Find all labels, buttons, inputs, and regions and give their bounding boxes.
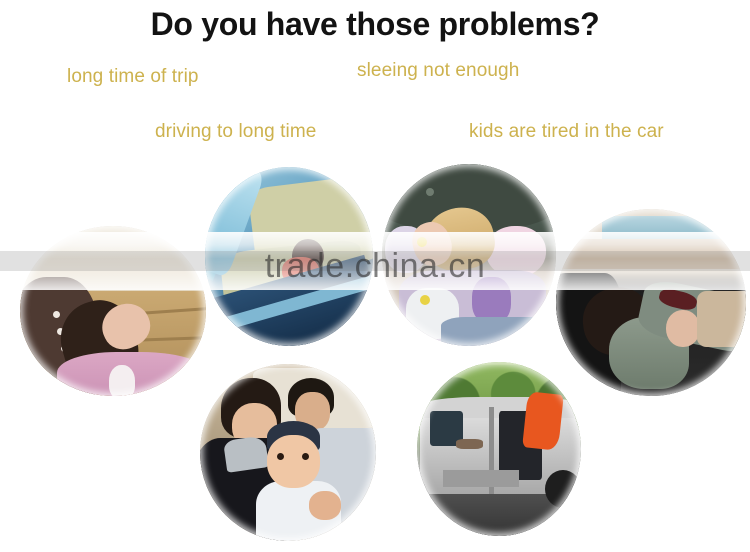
van-door-sill [443,470,518,487]
interior-panel [697,291,746,347]
van-wheel-layer [545,470,581,508]
photo-circle-blue-car-interior [205,167,373,346]
photo-scene [382,164,556,346]
baby-eye-right [302,453,309,460]
photo-circle-child-asleep [382,164,556,346]
caption-long-time-of-trip: long time of trip [67,66,199,88]
bow-detail [109,365,135,396]
baby-face-layer [267,435,320,488]
page-title: Do you have those problems? [0,6,750,43]
photo-scene [417,362,581,536]
photo-scene [200,364,376,541]
photo-scene [205,167,373,346]
baby-eye-left [277,453,284,460]
caption-kids-are-tired-in-the-car: kids are tired in the car [469,121,664,143]
ear-accent-detail [417,237,427,247]
woman-collar-detail [223,436,269,473]
photo-scene [556,209,746,396]
photo-circle-mother-and-baby [200,364,376,541]
jeans-layer [441,317,552,346]
photo-circle-silver-van [417,362,581,536]
dashboard-layer [556,239,746,269]
photo-circle-woman-grey-pillow [556,209,746,396]
supporting-hand [309,491,341,519]
product-poster: Do you have those problems? long time of… [0,0,750,552]
caption-driving-too-long-time: driving to long time [155,121,316,143]
caption-sleeping-not-enough: sleeing not enough [357,60,519,82]
roof-fitting-detail [426,188,434,196]
photo-circle-woman-asleep-sofa [20,226,206,396]
photo-scene [20,226,206,396]
van-interior-detail [456,439,482,449]
